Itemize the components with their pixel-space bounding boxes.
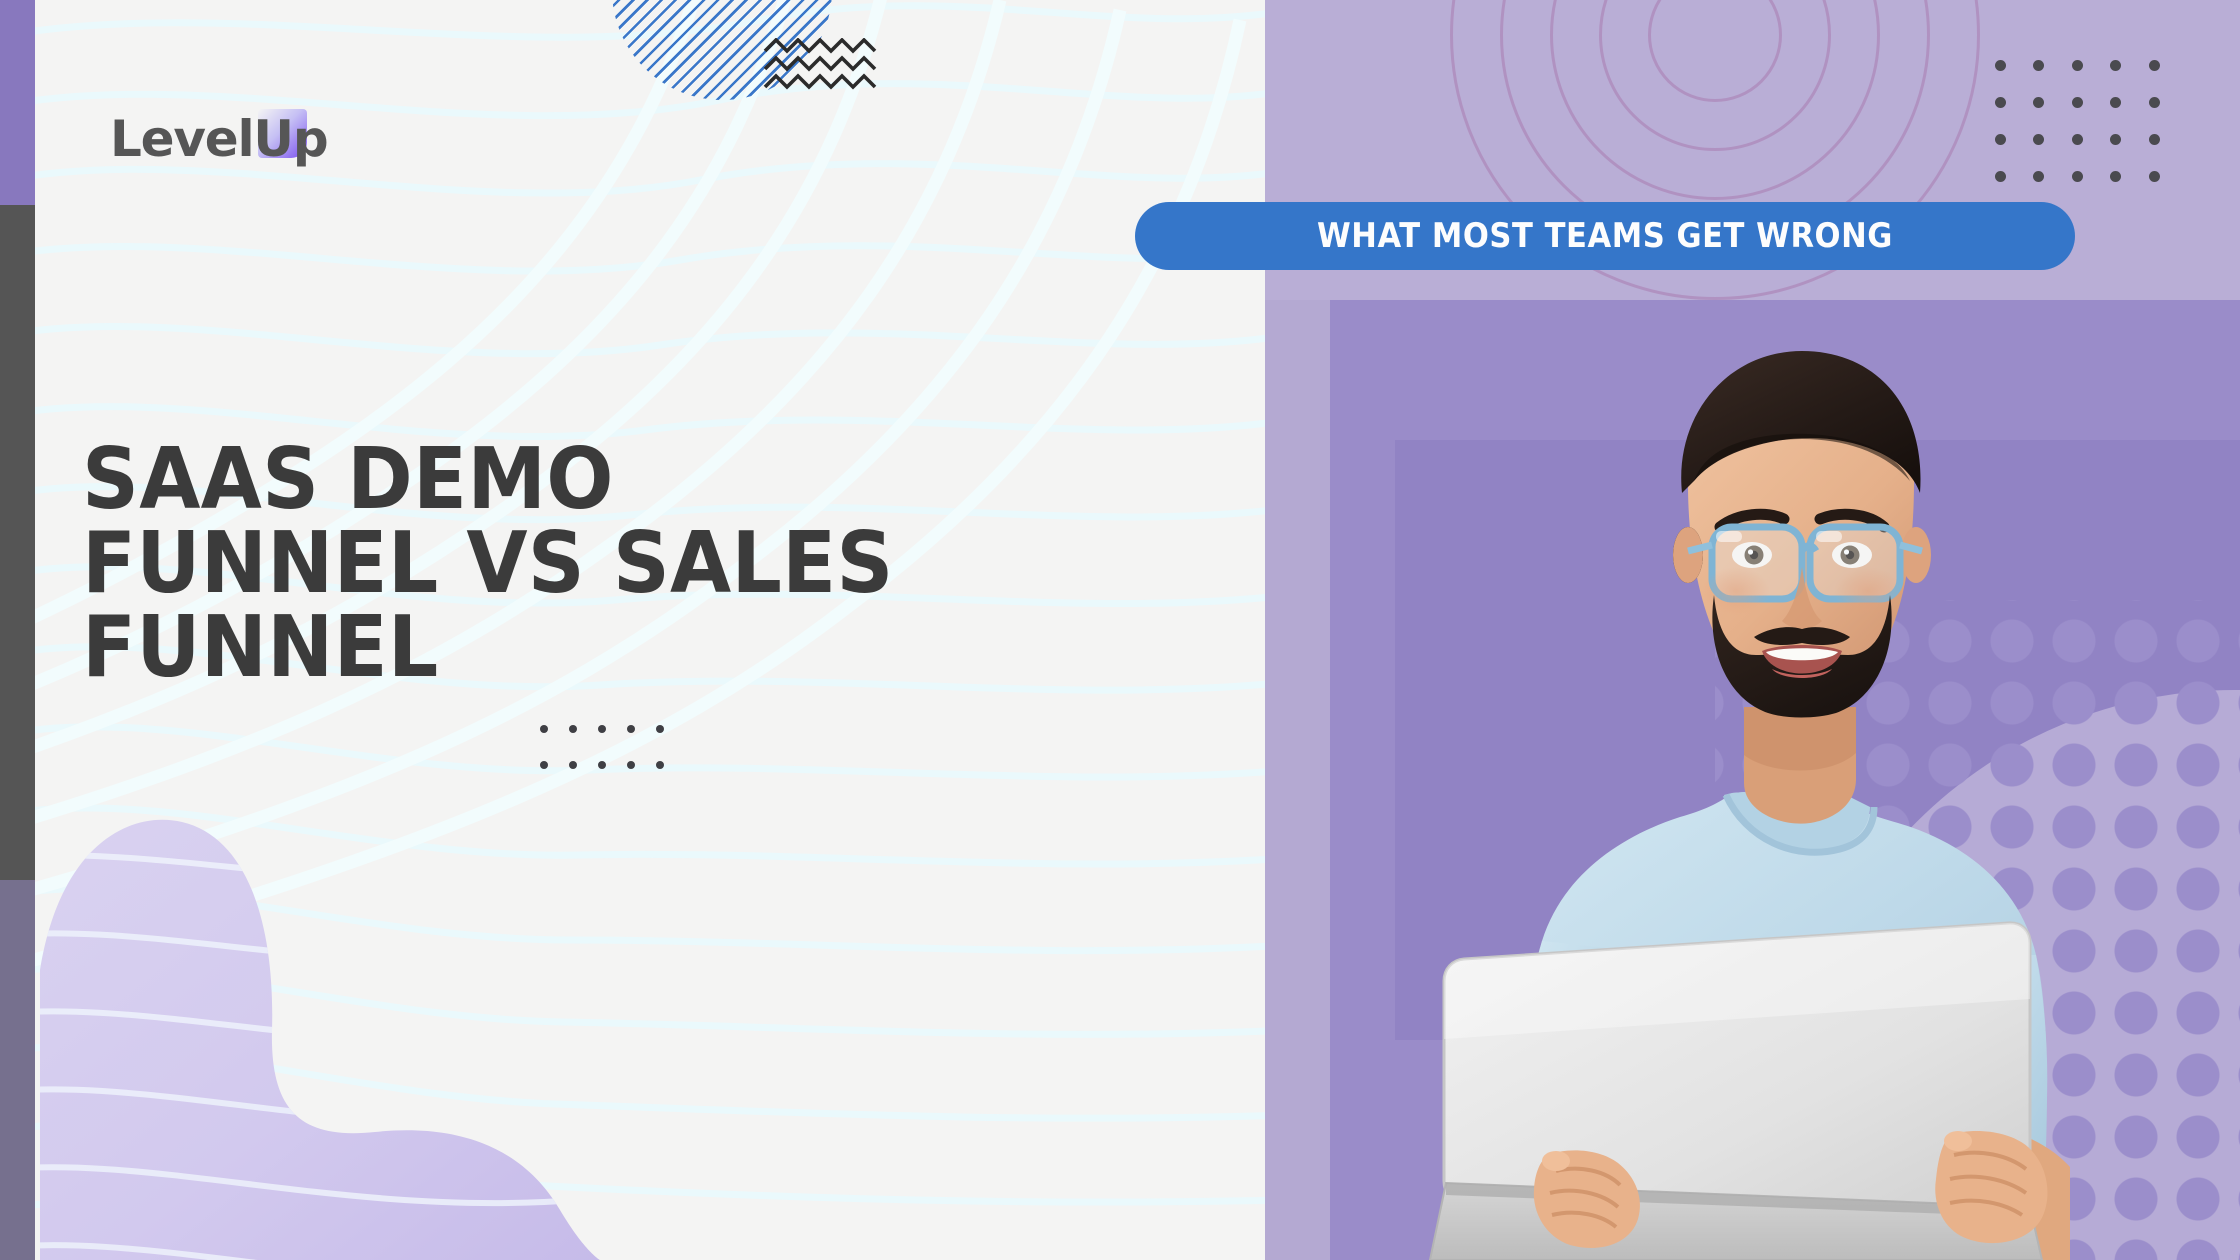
ear-left [1673, 527, 1703, 583]
ear-right [1901, 527, 1931, 583]
poster-canvas: LevelUp SAAS DEMO FUNNEL VS SALES FUNNEL [0, 0, 2240, 1260]
status-badge[interactable]: WHAT MOST TEAMS GET WRONG [1135, 202, 2075, 270]
headline-line-2: FUNNEL VS SALES [82, 522, 826, 606]
organic-blob-icon [0, 740, 700, 1260]
page-title: SAAS DEMO FUNNEL VS SALES FUNNEL [82, 438, 882, 690]
edge-strip-purple-segment [0, 0, 35, 205]
brand-logo[interactable]: LevelUp [110, 108, 327, 170]
logo-text: LevelUp [110, 110, 327, 168]
left-panel: LevelUp SAAS DEMO FUNNEL VS SALES FUNNEL [0, 0, 1265, 1260]
zigzag-lines-icon [763, 38, 881, 90]
headline-line-3: FUNNEL [82, 606, 826, 690]
headline-line-1: SAAS DEMO [82, 438, 826, 522]
person-holding-laptop-icon [1250, 255, 2070, 1260]
dot-grid-icon [1995, 60, 2165, 200]
dot-grid-icon [540, 725, 666, 769]
edge-strip-purple-overlay [0, 880, 35, 1260]
left-edge-strip [0, 0, 35, 1260]
status-badge-label: WHAT MOST TEAMS GET WRONG [1317, 216, 1893, 256]
